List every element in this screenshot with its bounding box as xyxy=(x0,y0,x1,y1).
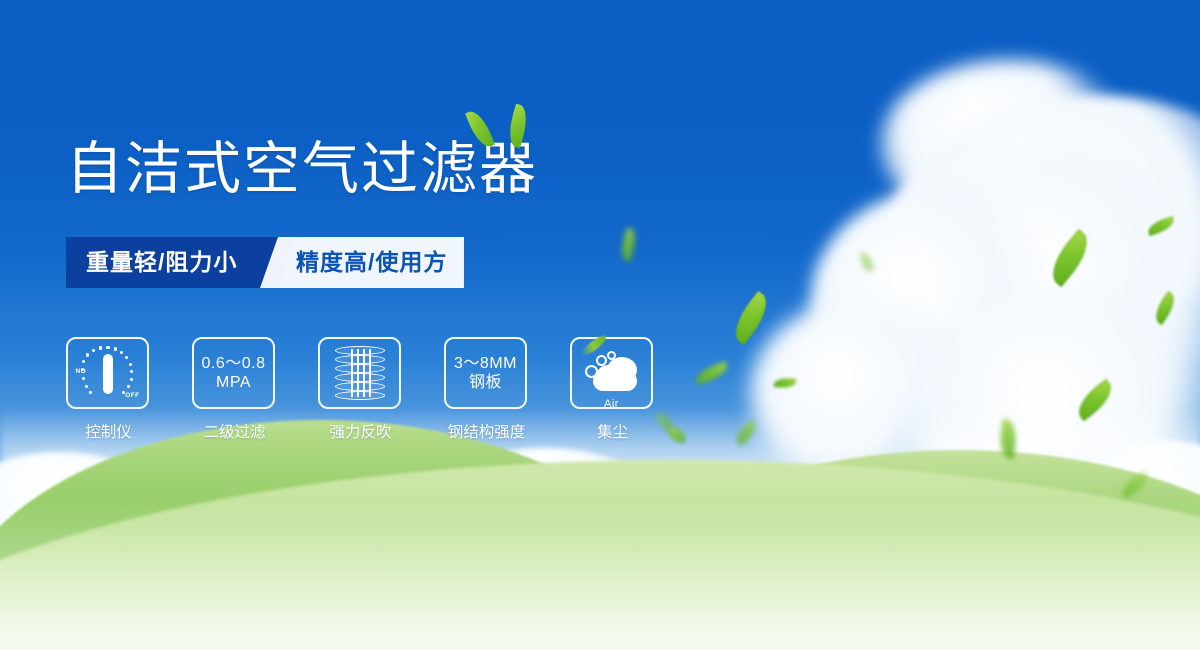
floating-leaf xyxy=(774,377,797,389)
sky-cloud-puff xyxy=(880,60,1140,230)
filter-stack-graphic xyxy=(335,346,385,400)
subtitle-right-label: 精度高/使用方便 xyxy=(296,237,464,339)
feature-list: NO OFF 控制仪 0.6～0.8 MPA 二级过滤 xyxy=(66,337,655,442)
steel-thickness-text: 3～8MM xyxy=(454,354,517,373)
feature-label: 强力反吹 xyxy=(318,420,403,442)
two-leaves-icon xyxy=(466,103,556,159)
subtitle-bar: 重量轻/阻力小 精度高/使用方便 xyxy=(66,237,464,288)
air-caption: Air xyxy=(583,398,641,410)
sky-cloud-puff xyxy=(880,95,1200,425)
bottom-light-strip xyxy=(0,634,1200,650)
dust-cloud-graphic: Air xyxy=(583,349,641,397)
filter-stack-icon xyxy=(318,337,401,409)
gauge-needle xyxy=(103,354,113,394)
feature-item-secondary-filter[interactable]: 0.6～0.8 MPA 二级过滤 xyxy=(192,337,277,442)
pressure-range-text: 0.6～0.8 xyxy=(202,354,266,373)
floating-leaf xyxy=(1146,216,1176,236)
air-dust-cloud-icon: Air xyxy=(570,337,653,409)
feature-label: 钢结构强度 xyxy=(444,420,529,442)
floating-leaf xyxy=(617,227,640,262)
pressure-value-icon: 0.6～0.8 MPA xyxy=(192,337,275,409)
sprout-leaf-right xyxy=(505,104,532,149)
grass-haze-overlay xyxy=(0,500,1200,650)
steel-thickness-icon: 3～8MM 钢板 xyxy=(444,337,527,409)
subtitle-segment-secondary: 精度高/使用方便 xyxy=(260,237,464,288)
sky-cloud-puff xyxy=(900,150,1200,450)
feature-label: 集尘 xyxy=(570,420,655,442)
floating-leaf xyxy=(1043,229,1097,287)
gauge-graphic: NO OFF xyxy=(77,345,139,401)
feature-item-backflush[interactable]: 强力反吹 xyxy=(318,337,403,442)
steel-plate-text: 钢板 xyxy=(469,373,502,392)
page-title: 自洁式空气过滤器 xyxy=(66,141,538,198)
feature-label: 控制仪 xyxy=(66,420,151,442)
floating-leaf xyxy=(1150,291,1180,325)
gauge-max-label: OFF xyxy=(125,392,139,399)
feature-item-dust-collection[interactable]: Air 集尘 xyxy=(570,337,655,442)
sky-cloud-puff xyxy=(810,190,1060,420)
feature-item-controller[interactable]: NO OFF 控制仪 xyxy=(66,337,151,442)
feature-label: 二级过滤 xyxy=(192,420,277,442)
hero-banner: 自洁式空气过滤器 重量轻/阻力小 精度高/使用方便 xyxy=(0,0,1200,650)
floating-leaf xyxy=(694,361,731,385)
feature-item-steel-strength[interactable]: 3～8MM 钢板 钢结构强度 xyxy=(444,337,529,442)
gauge-dial-icon: NO OFF xyxy=(66,337,149,409)
subtitle-left-label: 重量轻/阻力小 xyxy=(86,237,237,288)
floating-leaf xyxy=(860,251,874,273)
subtitle-segment-primary: 重量轻/阻力小 xyxy=(66,237,278,288)
green-streak xyxy=(579,333,608,359)
sprout-leaf-left xyxy=(465,107,495,150)
floating-leaf xyxy=(726,291,775,346)
pressure-unit-text: MPA xyxy=(216,373,251,392)
gauge-min-label: NO xyxy=(76,368,87,375)
